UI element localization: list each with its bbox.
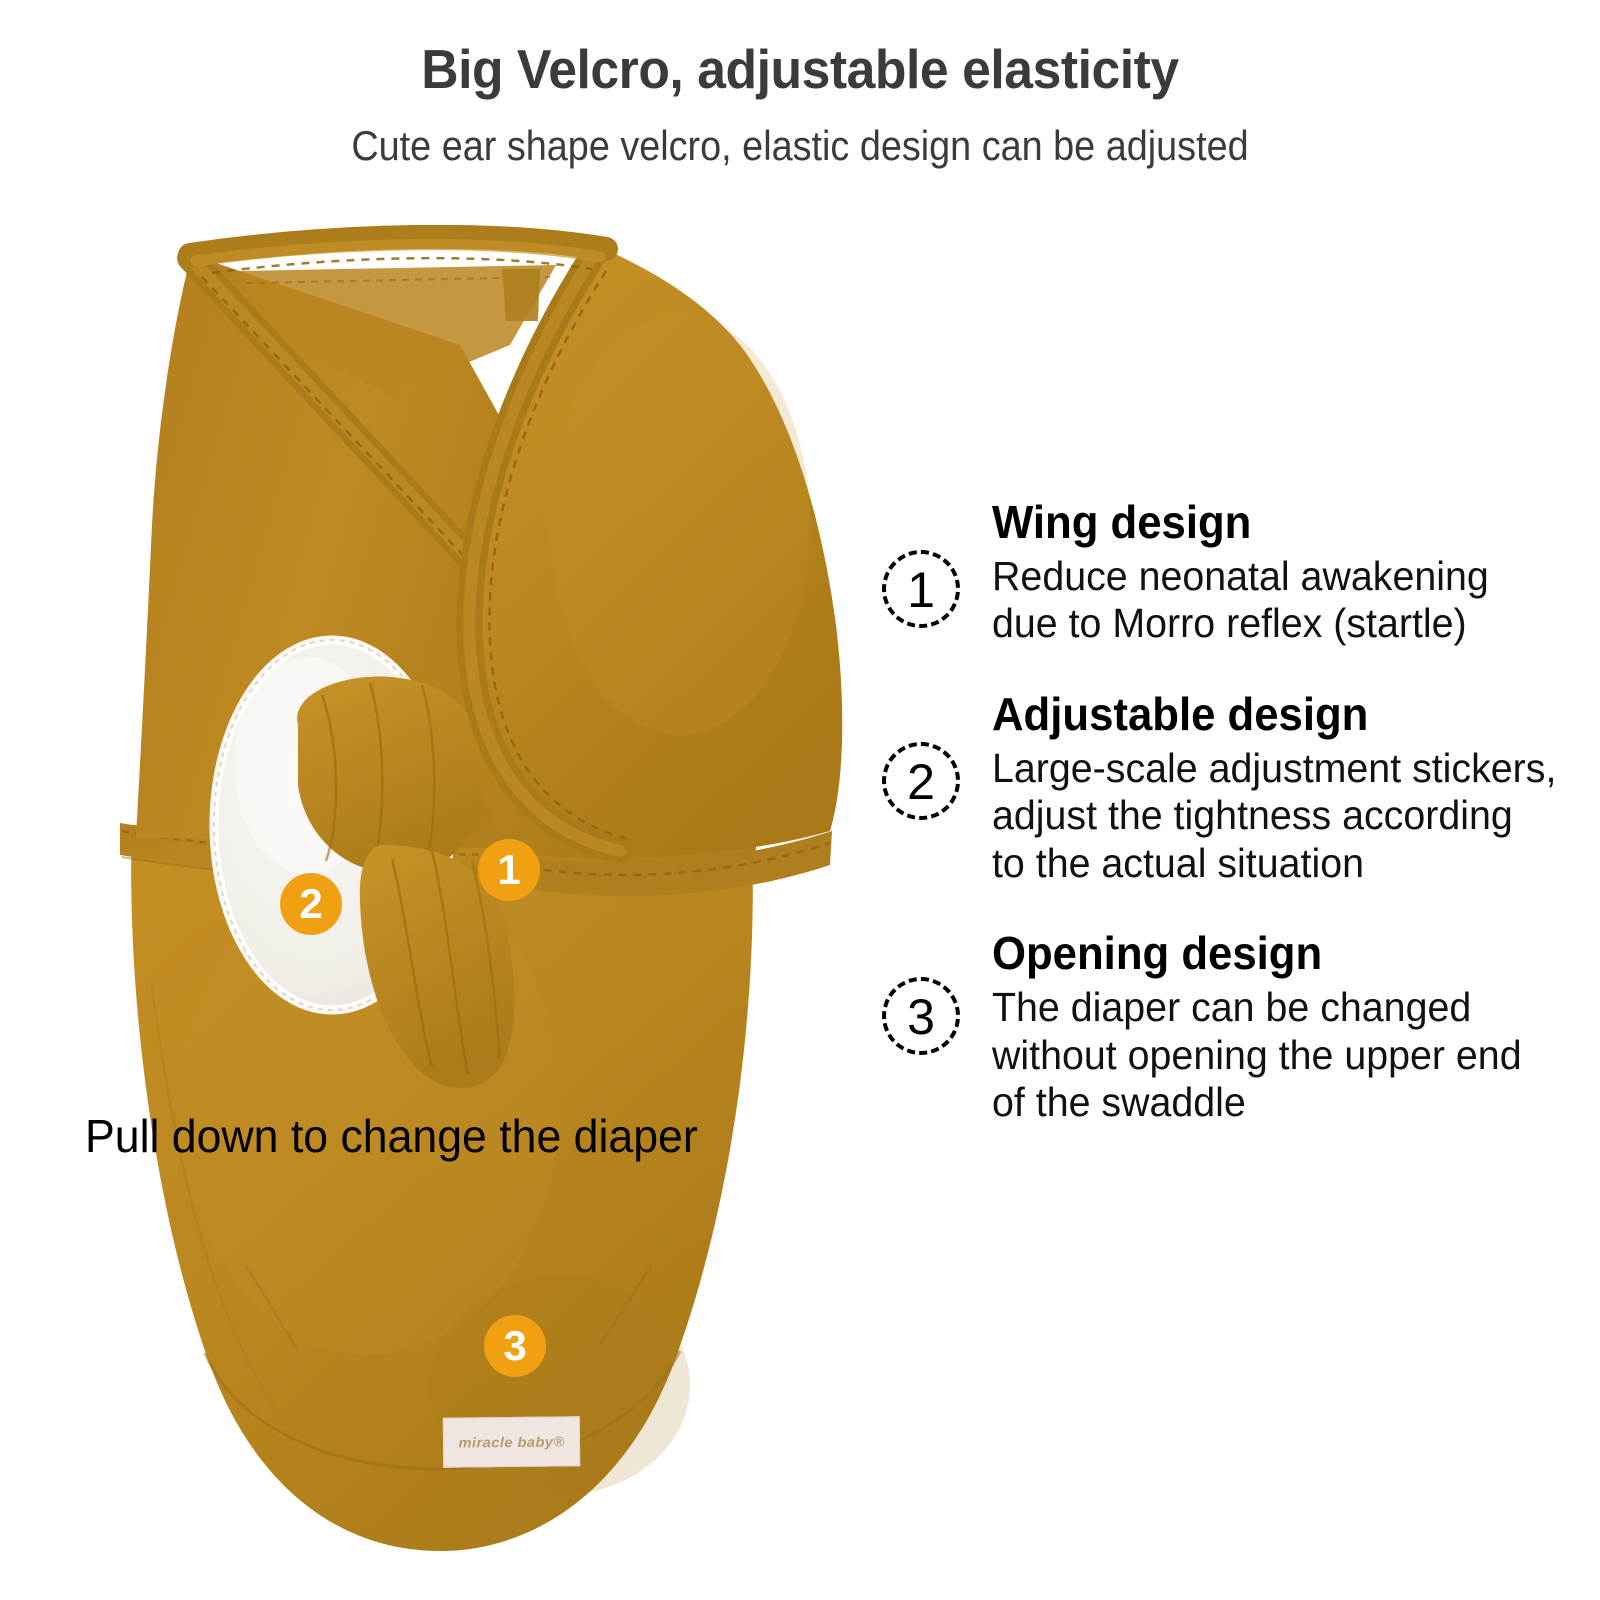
right-wrap-panel <box>466 247 842 896</box>
feature-title-2: Adjustable design <box>992 690 1551 739</box>
feature-list: 1 Wing design Reduce neonatal awakening … <box>880 498 1580 1169</box>
page-subtitle: Cute ear shape velcro, elastic design ca… <box>80 97 1520 167</box>
product-marker-1[interactable]: 1 <box>478 839 540 901</box>
product-marker-2[interactable]: 2 <box>280 873 342 935</box>
brand-label-text: miracle baby® <box>458 1433 564 1450</box>
feature-title-1: Wing design <box>992 498 1551 547</box>
feature-item-opening-design: 3 Opening design The diaper can be chang… <box>880 929 1580 1126</box>
feature-item-adjustable-design: 2 Adjustable design Large-scale adjustme… <box>880 690 1580 887</box>
feature-badge-1-icon: 1 <box>882 550 960 628</box>
brand-label: miracle baby® <box>443 1416 581 1467</box>
product-image: 1 2 3 miracle baby® Pull down to change … <box>40 225 890 1555</box>
page-title: Big Velcro, adjustable elasticity <box>48 0 1552 97</box>
swaddle-illustration <box>40 225 890 1555</box>
product-caption: Pull down to change the diaper <box>85 1113 919 1159</box>
feature-badge-3-icon: 3 <box>882 977 960 1055</box>
feature-description-1: Reduce neonatal awakening due to Morro r… <box>992 553 1556 648</box>
feature-description-2: Large-scale adjustment stickers, adjust … <box>992 745 1556 888</box>
feature-item-wing-design: 1 Wing design Reduce neonatal awakening … <box>880 498 1580 648</box>
header: Big Velcro, adjustable elasticity Cute e… <box>0 0 1600 205</box>
feature-badge-2-icon: 2 <box>882 742 960 820</box>
product-marker-3[interactable]: 3 <box>484 1315 546 1377</box>
feature-title-3: Opening design <box>992 929 1551 978</box>
feature-description-3: The diaper can be changed without openin… <box>992 984 1556 1127</box>
